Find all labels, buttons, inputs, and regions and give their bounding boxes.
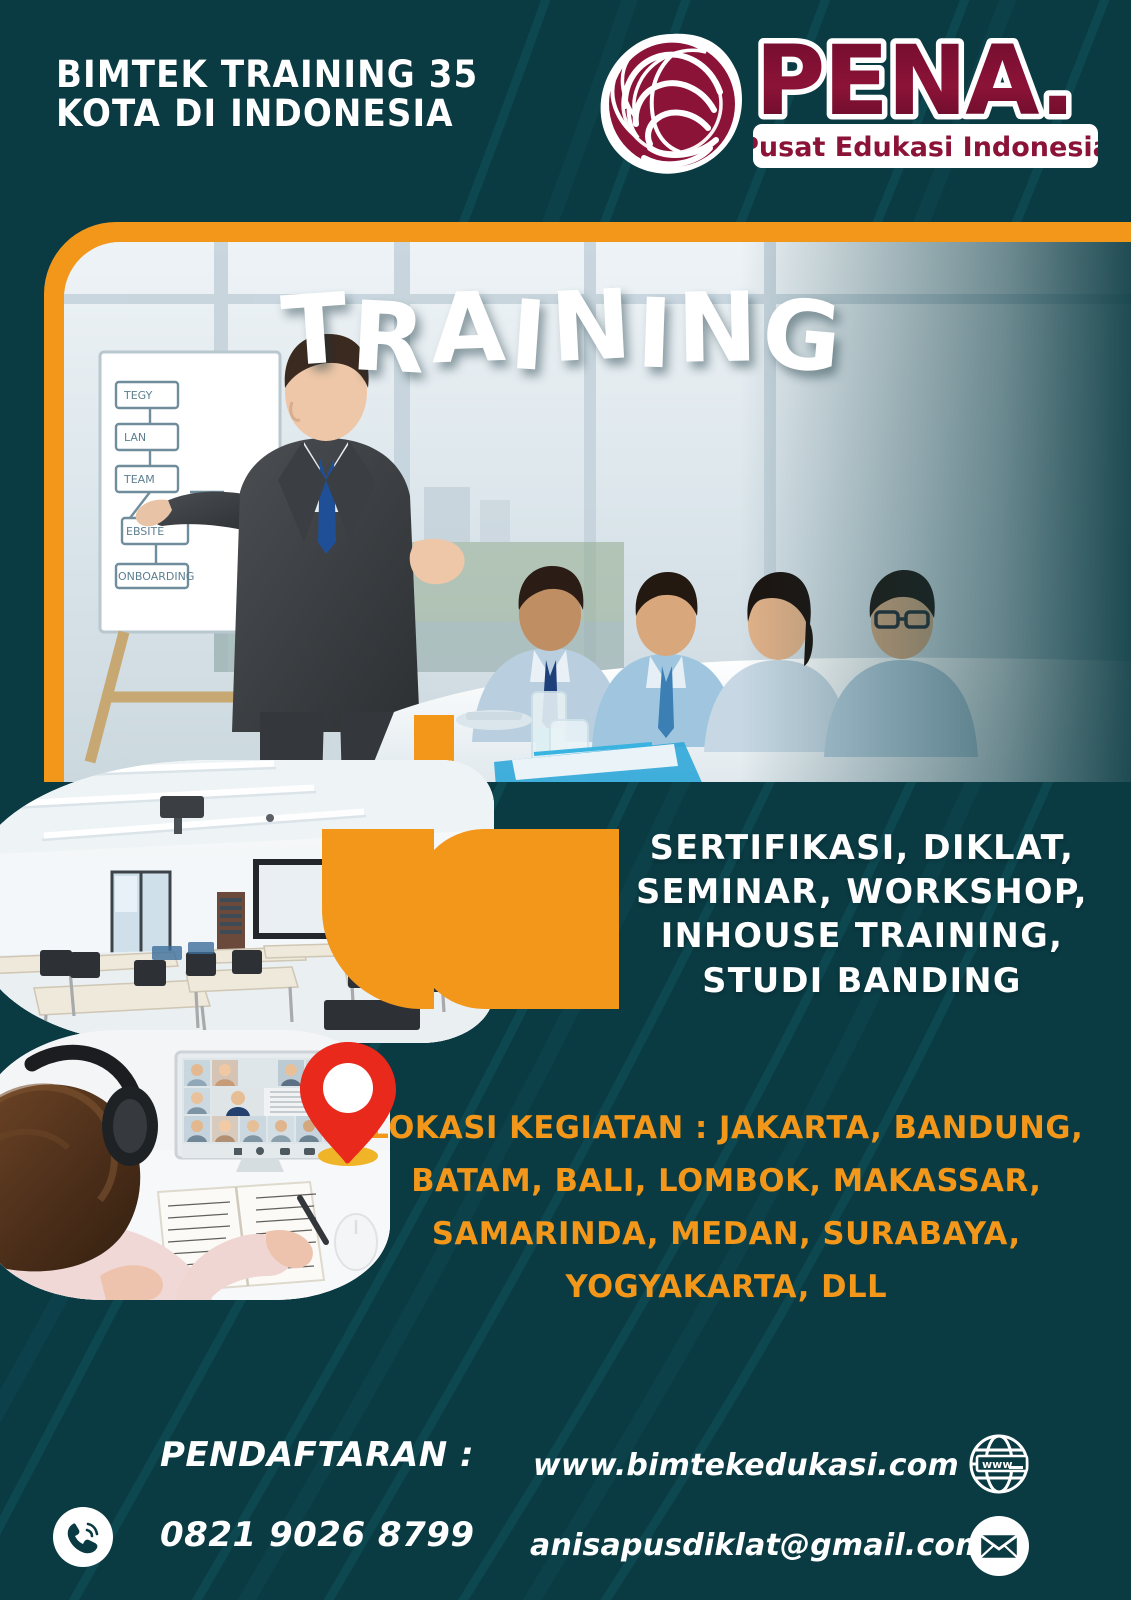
envelope-icon [963, 1510, 1035, 1582]
services-text: SERTIFIKASI, DIKLAT, SEMINAR, WORKSHOP, … [612, 826, 1112, 1003]
website-url[interactable]: www.bimtekedukasi.com [533, 1448, 959, 1483]
map-pin-icon [292, 1038, 404, 1166]
hero-title-letter: N [548, 268, 639, 384]
orange-accent-blob [414, 829, 619, 1009]
globe-www-icon: www. [963, 1428, 1035, 1500]
page-title: BIMTEK TRAINING 35 KOTA DI INDONESIA [56, 55, 478, 133]
pena-circle-feather-icon [598, 30, 746, 178]
hero-title-letter: G [757, 277, 850, 396]
poster-footer: PENDAFTARAN : 0821 9026 8799 www.bimteke… [0, 1410, 1131, 1600]
hero-title-letter: I [635, 277, 680, 390]
poster-header: BIMTEK TRAINING 35 KOTA DI INDONESIA [0, 0, 1131, 200]
brand-logo: PENA. PENA. Pusat Edukasi Indonesia [598, 26, 1098, 186]
locations-text: LOKASI KEGIATAN : JAKARTA, BANDUNG, BATA… [365, 1102, 1088, 1314]
hero-title-letter: N [677, 271, 764, 384]
svg-text:www.: www. [982, 1458, 1016, 1471]
hero-title-letter: I [506, 279, 554, 394]
phone-number[interactable]: 0821 9026 8799 [160, 1515, 475, 1555]
svg-text:PENA.: PENA. [755, 36, 1074, 137]
registration-label: PENDAFTARAN : [160, 1435, 474, 1475]
poster-root: BIMTEK TRAINING 35 KOTA DI INDONESIA [0, 0, 1131, 1600]
hero-title-letter: R [349, 280, 434, 396]
hero-title-letter: T [278, 272, 356, 389]
hero-title-letter: A [429, 271, 512, 386]
hero-title: TRAINING [282, 272, 847, 384]
email-address[interactable]: anisapusdiklat@gmail.com [530, 1528, 987, 1563]
svg-text:Pusat Edukasi Indonesia: Pusat Edukasi Indonesia [753, 132, 1098, 163]
phone-call-icon [52, 1506, 114, 1568]
brand-wordmark: PENA. PENA. Pusat Edukasi Indonesia [753, 36, 1098, 176]
